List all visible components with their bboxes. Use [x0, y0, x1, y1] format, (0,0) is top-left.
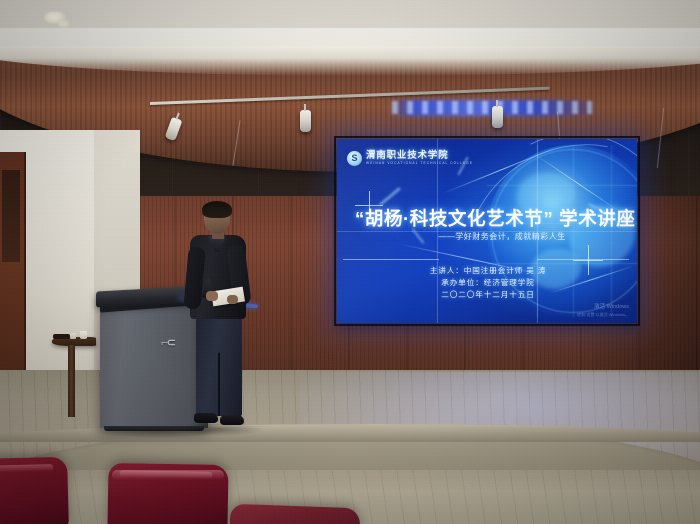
watermark-line-1: 激活 Windows — [577, 304, 629, 311]
audience-chair[interactable] — [230, 504, 361, 524]
speaker-leg-split — [218, 353, 220, 416]
college-name-cn: 渭南职业技术学院 — [366, 151, 473, 161]
slide-meta-block: 主讲人：中国注册会计师 吴 涛 承办单位：经济管理学院 二〇二〇年十二月十五日 — [383, 265, 593, 300]
college-logo: S 渭南职业技术学院 WEINAN VOCATIONAL TECHNICAL C… — [347, 151, 473, 166]
slide-meta-organizer: 承办单位：经济管理学院 — [383, 277, 593, 289]
slide-title: “胡杨·科技文化艺术节” 学术讲座 — [355, 205, 627, 231]
college-logo-text: 渭南职业技术学院 WEINAN VOCATIONAL TECHNICAL COL… — [366, 151, 473, 165]
panel-seam-horizontal — [337, 231, 637, 232]
door-glass-panel — [2, 170, 20, 262]
side-table-leg — [68, 345, 75, 417]
led-video-wall[interactable]: S 渭南职业技术学院 WEINAN VOCATIONAL TECHNICAL C… — [337, 139, 637, 323]
speaker-shoe — [194, 413, 218, 423]
watermark-line-2: 转到“设置”以激活 Windows。 — [577, 312, 629, 317]
track-spotlight-icon — [300, 110, 311, 132]
track-spotlight-icon — [492, 106, 503, 128]
slide-meta-date: 二〇二〇年十二月十五日 — [383, 289, 593, 301]
water-cup — [70, 333, 76, 339]
accent-rule — [537, 259, 629, 260]
downlight-glow-icon — [58, 20, 70, 28]
college-name-en: WEINAN VOCATIONAL TECHNICAL COLLEGE — [366, 162, 473, 165]
speaker-shoe — [220, 415, 244, 425]
speaker-hair — [202, 201, 232, 218]
activate-windows-watermark: 激活 Windows 转到“设置”以激活 Windows。 — [577, 304, 629, 317]
accent-rule — [343, 259, 439, 260]
lecture-hall-photo: S 渭南职业技术学院 WEINAN VOCATIONAL TECHNICAL C… — [0, 0, 700, 524]
speaker-hand — [206, 291, 218, 301]
slide-meta-speaker: 主讲人：中国注册会计师 吴 涛 — [383, 265, 593, 277]
water-cup — [80, 331, 87, 339]
slide-subtitle: ——学好财务会计，成就精彩人生 — [377, 231, 627, 242]
college-emblem-icon: S — [347, 151, 362, 166]
audience-chair[interactable] — [0, 457, 69, 524]
table-tray — [53, 334, 70, 339]
speaker — [182, 203, 256, 431]
speaker-hand — [227, 295, 238, 304]
podium-emblem-icon: ⌐⊂ — [152, 334, 184, 350]
chair-highlight — [112, 470, 224, 480]
